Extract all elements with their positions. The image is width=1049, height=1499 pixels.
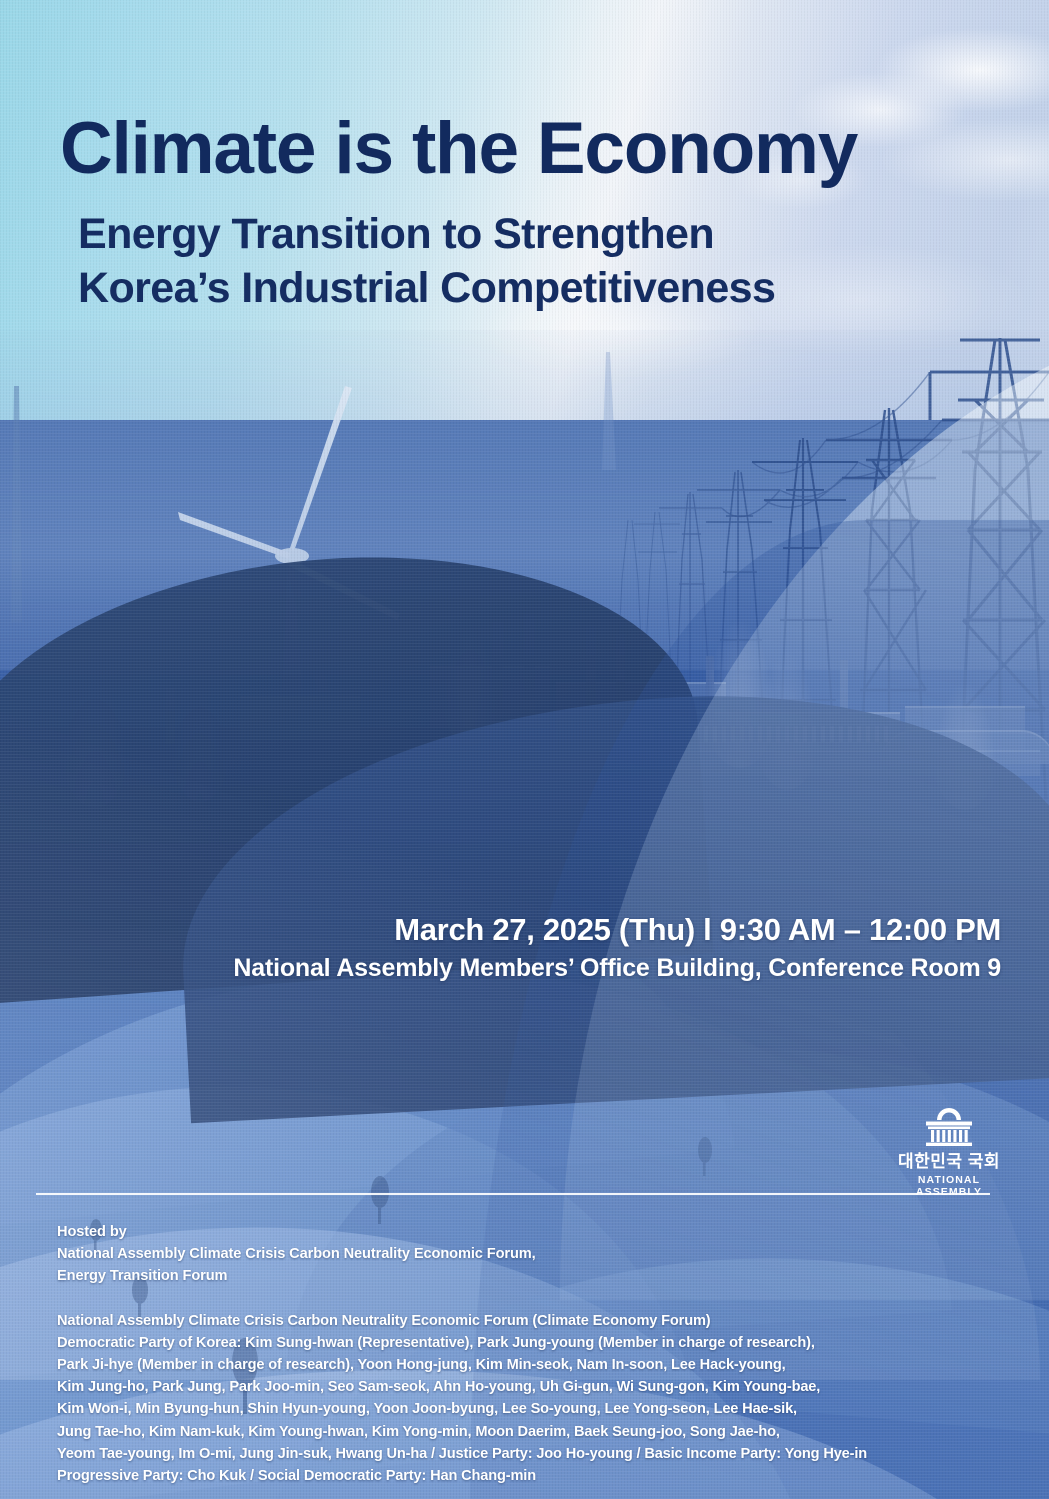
- host-line-2: Energy Transition Forum: [57, 1266, 867, 1288]
- page-subtitle: Energy Transition to Strengthen Korea’s …: [78, 207, 857, 315]
- page-title: Climate is the Economy: [60, 112, 857, 185]
- event-datetime: March 27, 2025 (Thu) l 9:30 AM – 12:00 P…: [233, 912, 1001, 948]
- logo-korean-text: 대한민국 국회: [886, 1153, 1012, 1172]
- host-section: Hosted by National Assembly Climate Cris…: [57, 1222, 867, 1288]
- host-label: Hosted by: [57, 1222, 867, 1244]
- members-line-7: Progressive Party: Cho Kuk / Social Demo…: [57, 1465, 867, 1487]
- members-line-5: Jung Tae-ho, Kim Nam-kuk, Kim Young-hwan…: [57, 1421, 867, 1443]
- footer-divider: [36, 1193, 990, 1195]
- subtitle-line-2: Korea’s Industrial Competitiveness: [78, 261, 857, 315]
- poster-canvas: Climate is the Economy Energy Transition…: [0, 0, 1049, 1499]
- national-assembly-logo: 대한민국 국회 NATIONAL ASSEMBLY: [886, 1103, 1012, 1198]
- members-section: National Assembly Climate Crisis Carbon …: [57, 1310, 867, 1487]
- title-block: Climate is the Economy Energy Transition…: [60, 112, 857, 315]
- national-assembly-building-icon: [912, 1103, 986, 1149]
- event-venue: National Assembly Members’ Office Buildi…: [233, 954, 1001, 983]
- members-line-6: Yeom Tae-young, Im O-mi, Jung Jin-suk, H…: [57, 1443, 867, 1465]
- members-line-4: Kim Won-i, Min Byung-hun, Shin Hyun-youn…: [57, 1398, 867, 1420]
- host-line-1: National Assembly Climate Crisis Carbon …: [57, 1244, 867, 1266]
- members-line-2: Park Ji-hye (Member in charge of researc…: [57, 1354, 867, 1376]
- members-line-3: Kim Jung-ho, Park Jung, Park Joo-min, Se…: [57, 1376, 867, 1398]
- event-details: March 27, 2025 (Thu) l 9:30 AM – 12:00 P…: [233, 912, 1001, 983]
- subtitle-line-1: Energy Transition to Strengthen: [78, 207, 857, 261]
- footer-block: Hosted by National Assembly Climate Cris…: [57, 1222, 867, 1487]
- members-heading: National Assembly Climate Crisis Carbon …: [57, 1310, 867, 1332]
- members-line-1: Democratic Party of Korea: Kim Sung-hwan…: [57, 1332, 867, 1354]
